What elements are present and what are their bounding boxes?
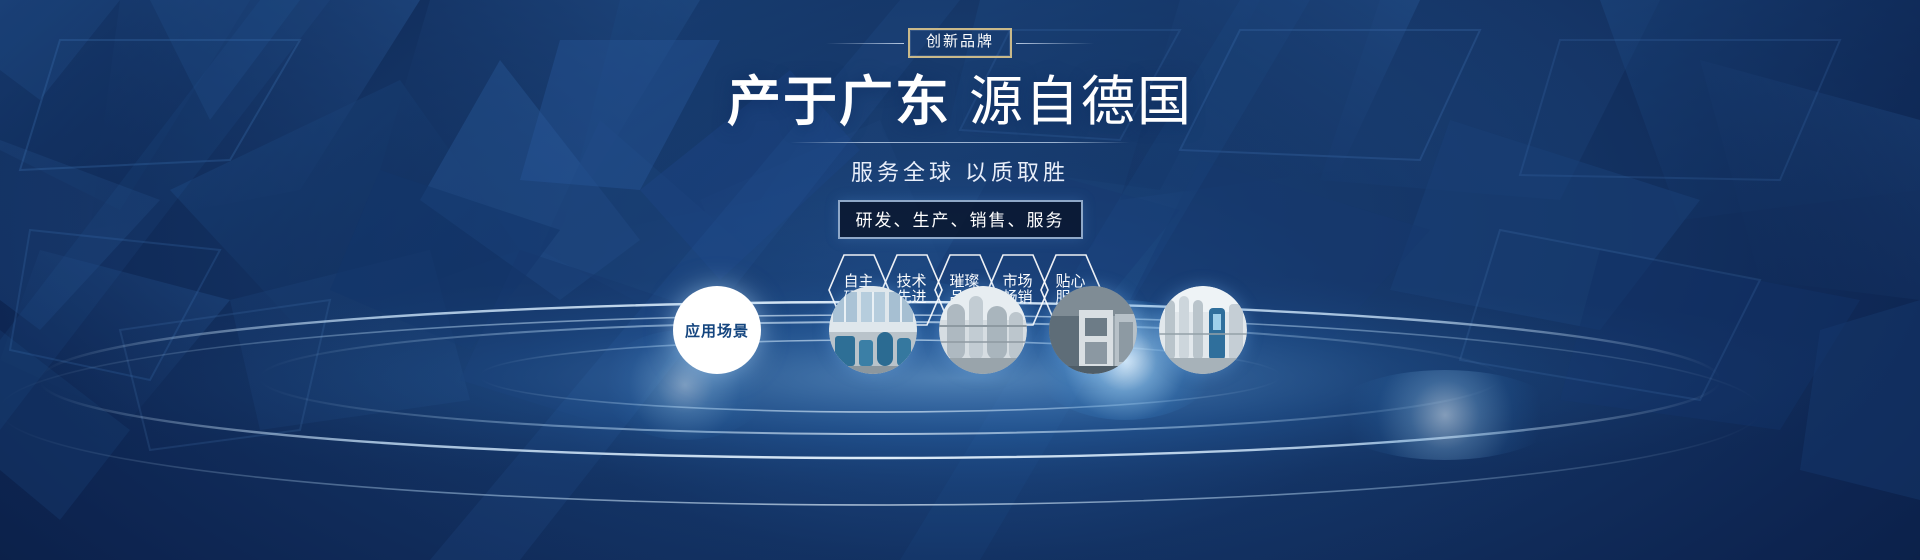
headline-divider: [790, 142, 1130, 143]
application-scene-label: 应用场景: [685, 320, 749, 341]
page-title: 产于广东 源自德国: [727, 72, 1193, 132]
application-scenes-strip: 应用场景: [0, 286, 1920, 374]
headline-part-1: 产于广东: [727, 72, 951, 132]
scene-photo-air-compressor-room[interactable]: [829, 286, 917, 374]
scene-photo-water-treatment-skid[interactable]: [1159, 286, 1247, 374]
badge-line-left: [826, 43, 904, 44]
subtitle: 服务全球 以质取胜: [851, 155, 1069, 187]
badge-line-right: [1016, 43, 1094, 44]
service-scope-box: 研发、生产、销售、服务: [838, 200, 1083, 239]
headline-part-2: 源自德国: [969, 72, 1193, 132]
promo-banner: 创新品牌 产于广东 源自德国 服务全球 以质取胜 研发、生产、销售、服务 自主 …: [0, 0, 1920, 560]
banner-content: 创新品牌 产于广东 源自德国 服务全球 以质取胜 研发、生产、销售、服务 自主 …: [0, 28, 1920, 327]
badge-row: 创新品牌: [826, 28, 1094, 58]
scene-photo-industrial-dryer-unit[interactable]: [1049, 286, 1137, 374]
scene-photo-stainless-tank-plant[interactable]: [939, 286, 1027, 374]
application-scene-circle[interactable]: 应用场景: [673, 286, 761, 374]
innovation-badge: 创新品牌: [908, 28, 1012, 58]
